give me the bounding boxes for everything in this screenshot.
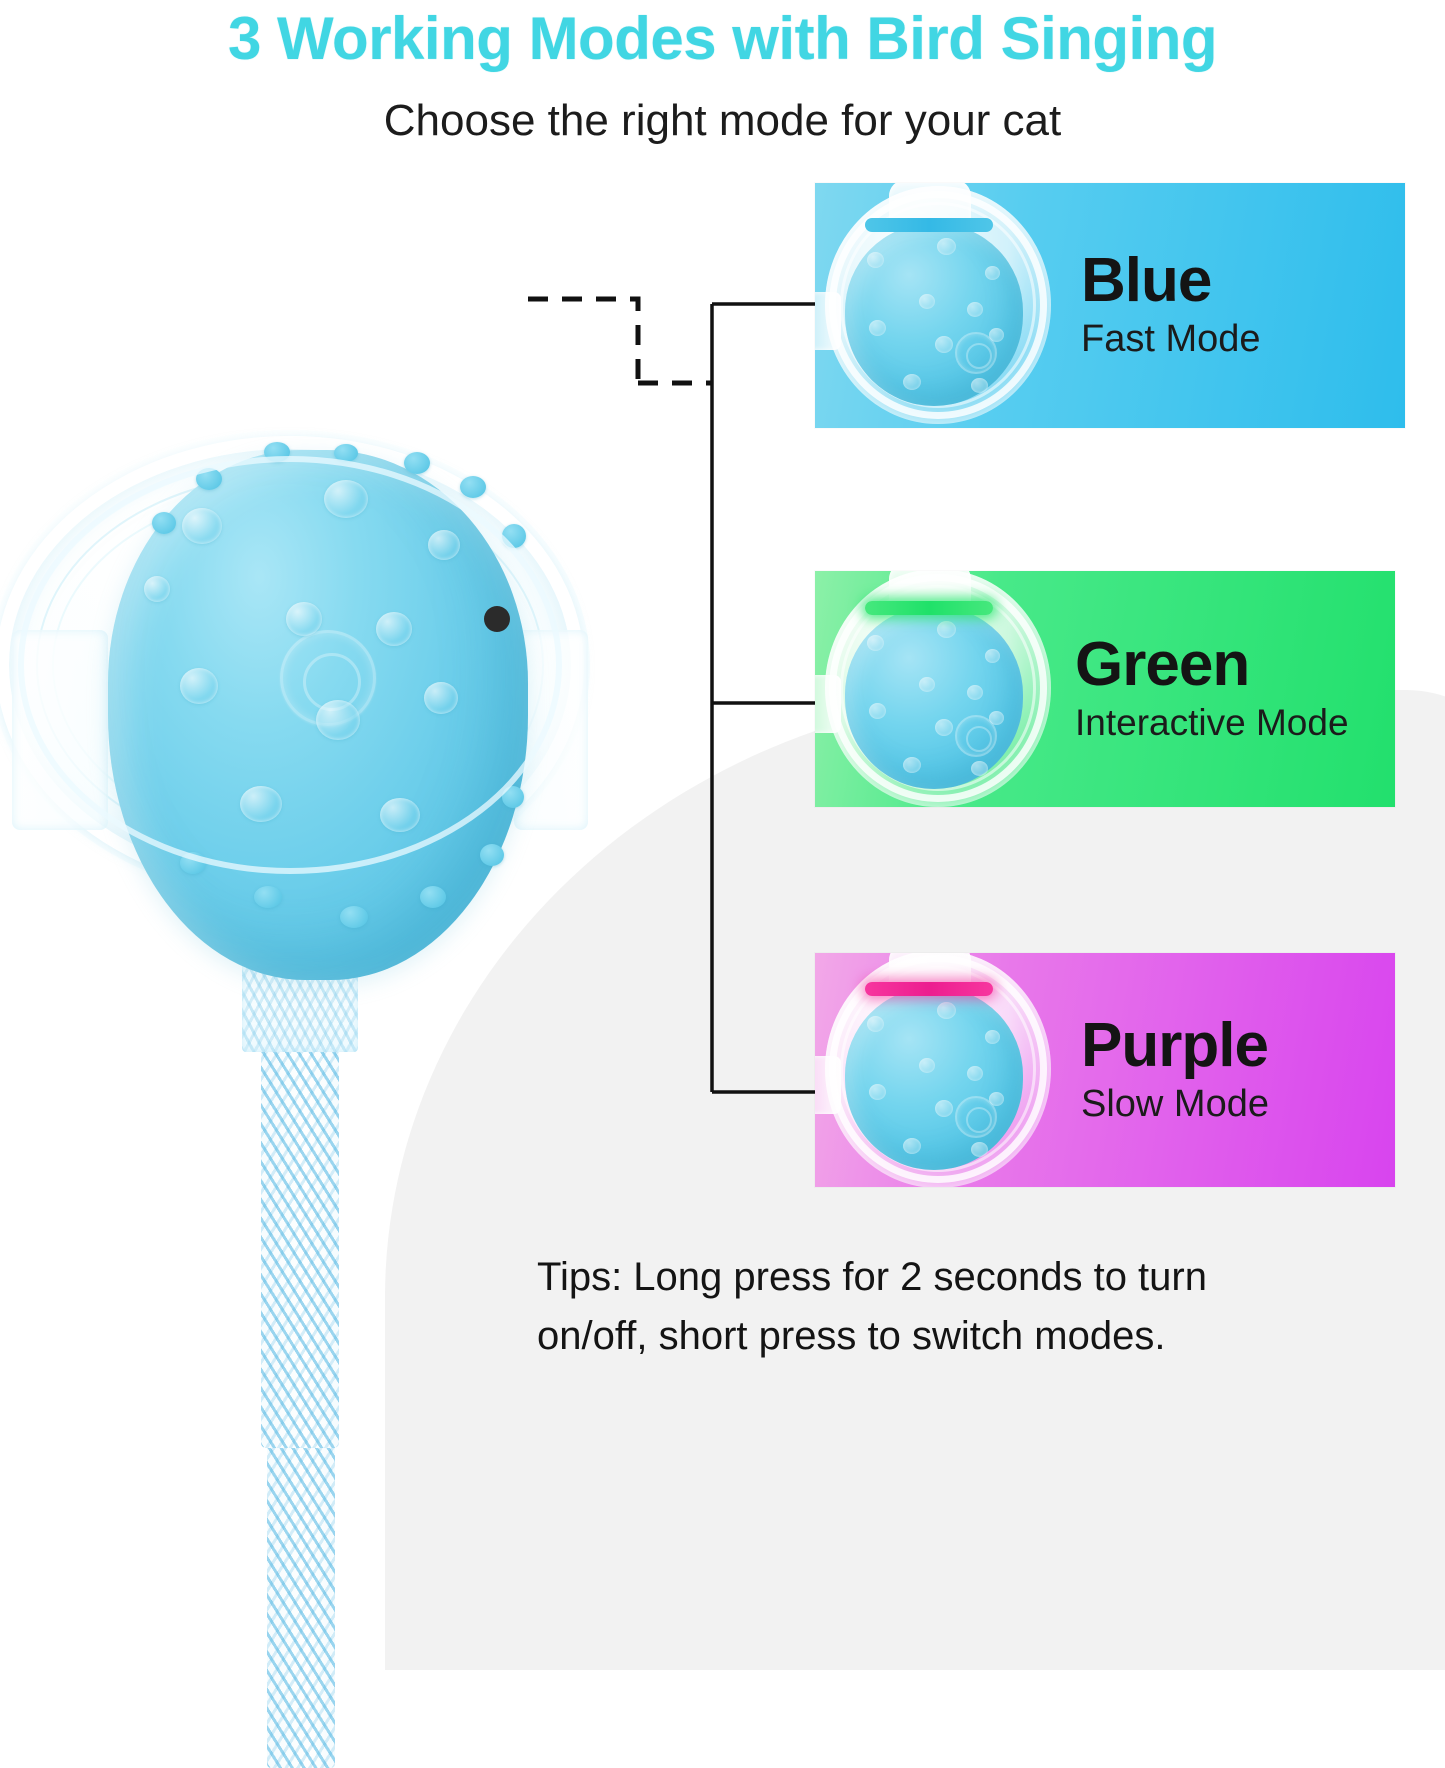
callout-dashed-line	[528, 299, 638, 383]
ball-bump	[903, 374, 921, 390]
page-title: 3 Working Modes with Bird Singing	[0, 4, 1445, 73]
mode-card-product-image-purple	[815, 953, 1065, 1187]
mini-led-strip-purple	[865, 982, 993, 996]
mini-silicone-ball	[845, 224, 1023, 406]
ball-bump	[971, 761, 988, 776]
product-handle-lower	[267, 1438, 335, 1768]
ball-bump	[869, 1084, 886, 1100]
ball-bump	[869, 703, 886, 719]
mini-side-port	[815, 675, 841, 733]
ball-bump	[985, 1030, 1000, 1044]
ball-bump	[989, 328, 1004, 342]
mode-card-blue[interactable]: Blue Fast Mode	[815, 183, 1405, 428]
mini-ball-purple	[815, 953, 1059, 1187]
ball-bump	[935, 1100, 953, 1117]
mini-led-strip-blue	[865, 218, 993, 232]
ball-bump	[903, 757, 921, 773]
ball-bump	[919, 677, 935, 692]
mode-description-purple: Slow Mode	[1081, 1083, 1395, 1127]
ball-bump	[989, 711, 1004, 725]
mini-ball-blue	[815, 183, 1059, 428]
ball-bump	[867, 635, 884, 651]
ball-bump	[971, 1142, 988, 1157]
mini-silicone-ball	[845, 607, 1023, 789]
mini-ball-green	[815, 571, 1059, 807]
ball-bump	[971, 378, 988, 393]
ball-bump	[869, 320, 886, 336]
ball-bump	[903, 1138, 921, 1154]
mode-card-product-image-blue	[815, 183, 1065, 428]
ball-bump	[989, 1092, 1004, 1106]
mode-card-text-green: Green Interactive Mode	[1065, 571, 1395, 807]
mode-card-product-image-green	[815, 571, 1065, 807]
tips-text: Tips: Long press for 2 seconds to turn o…	[537, 1248, 1237, 1366]
mode-card-green[interactable]: Green Interactive Mode	[815, 571, 1395, 807]
ball-bump	[867, 252, 884, 268]
ball-bump	[967, 1066, 983, 1081]
mini-side-port	[815, 292, 841, 350]
ball-bump	[919, 294, 935, 309]
mini-side-port	[815, 1056, 841, 1114]
ball-bump	[937, 1002, 956, 1019]
ball-bump	[919, 1058, 935, 1073]
ball-bump	[967, 302, 983, 317]
ball-bump	[935, 336, 953, 353]
mode-name-blue: Blue	[1081, 249, 1405, 312]
mode-card-text-purple: Purple Slow Mode	[1065, 953, 1395, 1187]
mode-card-text-blue: Blue Fast Mode	[1065, 183, 1405, 428]
ball-bump	[935, 719, 953, 736]
mode-name-green: Green	[1075, 633, 1395, 696]
ball-bump	[937, 621, 956, 638]
mode-name-purple: Purple	[1081, 1014, 1395, 1077]
ball-bump	[967, 685, 983, 700]
mode-card-purple[interactable]: Purple Slow Mode	[815, 953, 1395, 1187]
mini-silicone-ball	[845, 988, 1023, 1170]
page-subtitle: Choose the right mode for your cat	[0, 96, 1445, 146]
mini-led-strip-green	[865, 601, 993, 615]
ball-bump	[867, 1016, 884, 1032]
ball-bump	[985, 649, 1000, 663]
mode-description-blue: Fast Mode	[1081, 318, 1405, 362]
ball-bump	[985, 266, 1000, 280]
ball-bump	[937, 238, 956, 255]
mode-description-green: Interactive Mode	[1075, 702, 1395, 745]
